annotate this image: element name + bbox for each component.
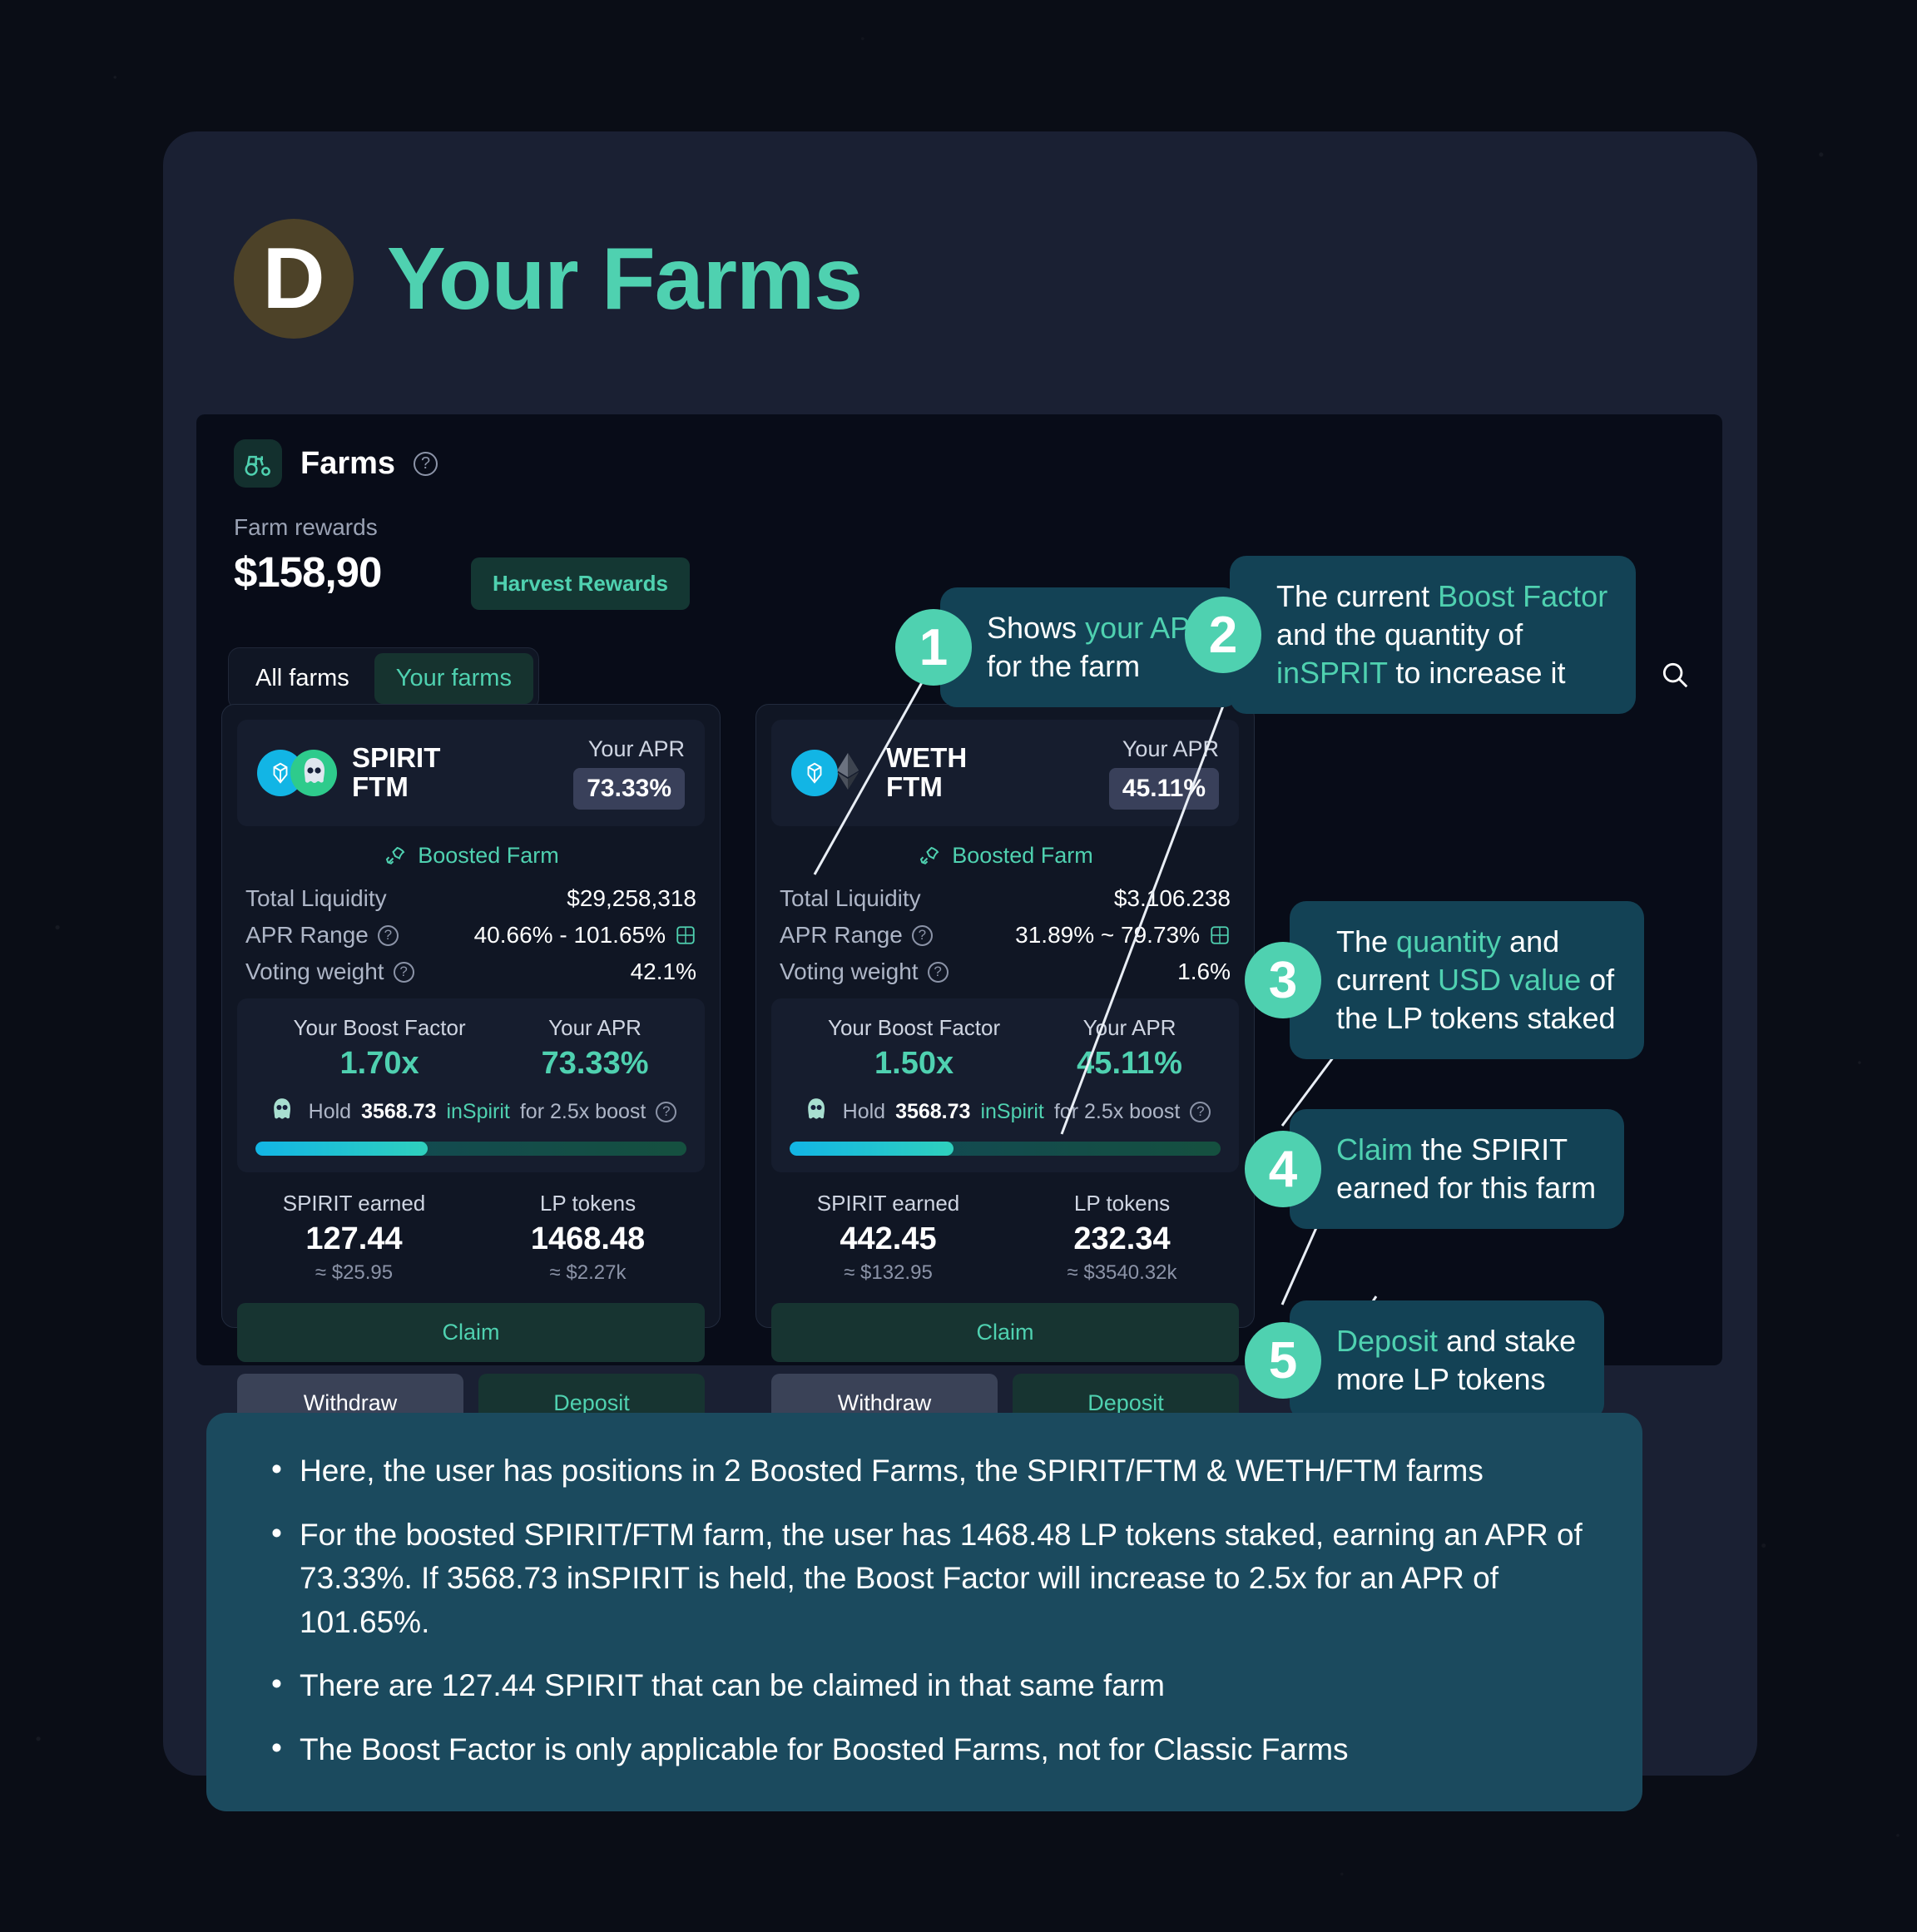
notes-list: Here, the user has positions in 2 Booste… [265, 1449, 1584, 1771]
note-item: Here, the user has positions in 2 Booste… [265, 1449, 1584, 1494]
callout-5: 5 Deposit and stakemore LP tokens [1245, 1300, 1604, 1420]
callout-text: Claim the SPIRITearned for this farm [1290, 1109, 1624, 1229]
callout-number: 5 [1245, 1322, 1321, 1399]
callout-4: 4 Claim the SPIRITearned for this farm [1245, 1109, 1624, 1229]
callout-number: 2 [1185, 597, 1261, 673]
callout-2: 2 The current Boost Factorand the quanti… [1185, 556, 1636, 714]
callout-text: The quantity andcurrent USD value ofthe … [1290, 901, 1644, 1059]
callout-text: Deposit and stakemore LP tokens [1290, 1300, 1604, 1420]
note-item: There are 127.44 SPIRIT that can be clai… [265, 1664, 1584, 1708]
notes-panel: Here, the user has positions in 2 Booste… [206, 1413, 1642, 1811]
callout-text: The current Boost Factorand the quantity… [1230, 556, 1636, 714]
note-item: For the boosted SPIRIT/FTM farm, the use… [265, 1513, 1584, 1645]
callout-3: 3 The quantity andcurrent USD value ofth… [1245, 901, 1644, 1059]
callout-number: 1 [895, 609, 972, 686]
callout-number: 3 [1245, 942, 1321, 1018]
note-item: The Boost Factor is only applicable for … [265, 1728, 1584, 1772]
callout-number: 4 [1245, 1131, 1321, 1207]
